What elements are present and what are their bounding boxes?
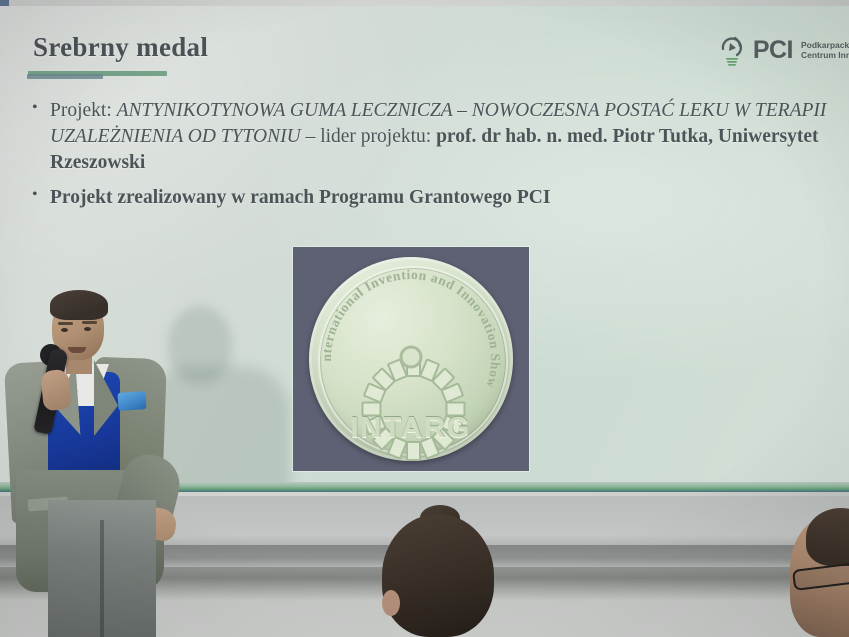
medal-wordmark: INTARG (309, 412, 513, 445)
pci-subtitle-line-1: Podkarpacke (799, 40, 849, 50)
audience-head-bun (382, 514, 494, 637)
pci-bulb-swirl-icon (717, 34, 747, 66)
speaker-eye-left (61, 328, 68, 332)
intarg-medal: International Invention and Innovation S… (309, 257, 513, 461)
audience-ear (382, 590, 400, 616)
medal-image-frame: International Invention and Innovation S… (293, 247, 529, 471)
speaker-eyebrow-right (82, 321, 97, 324)
medal-center-dot (400, 345, 423, 368)
speaker-hair (50, 290, 108, 320)
speaker-hand-left (40, 369, 72, 412)
speaker-eye-right (84, 327, 91, 331)
speaker-trouser-seam (100, 520, 104, 637)
pci-subtitle-line-2: Centrum Inn (799, 50, 849, 60)
pci-wordmark: PCI (753, 38, 793, 63)
speaker-eyebrow-left (58, 322, 73, 325)
speaker-figure (0, 0, 260, 637)
bullet-mid-text: – lider projektu: (301, 126, 436, 147)
presentation-photo: Srebrny medal PCI Podkarpacke Centrum In… (0, 0, 849, 637)
pci-subtitle: Podkarpacke Centrum Inn (799, 40, 849, 60)
pci-logo: PCI Podkarpacke Centrum Inn (717, 34, 849, 66)
speaker-pocket-square (117, 391, 146, 411)
